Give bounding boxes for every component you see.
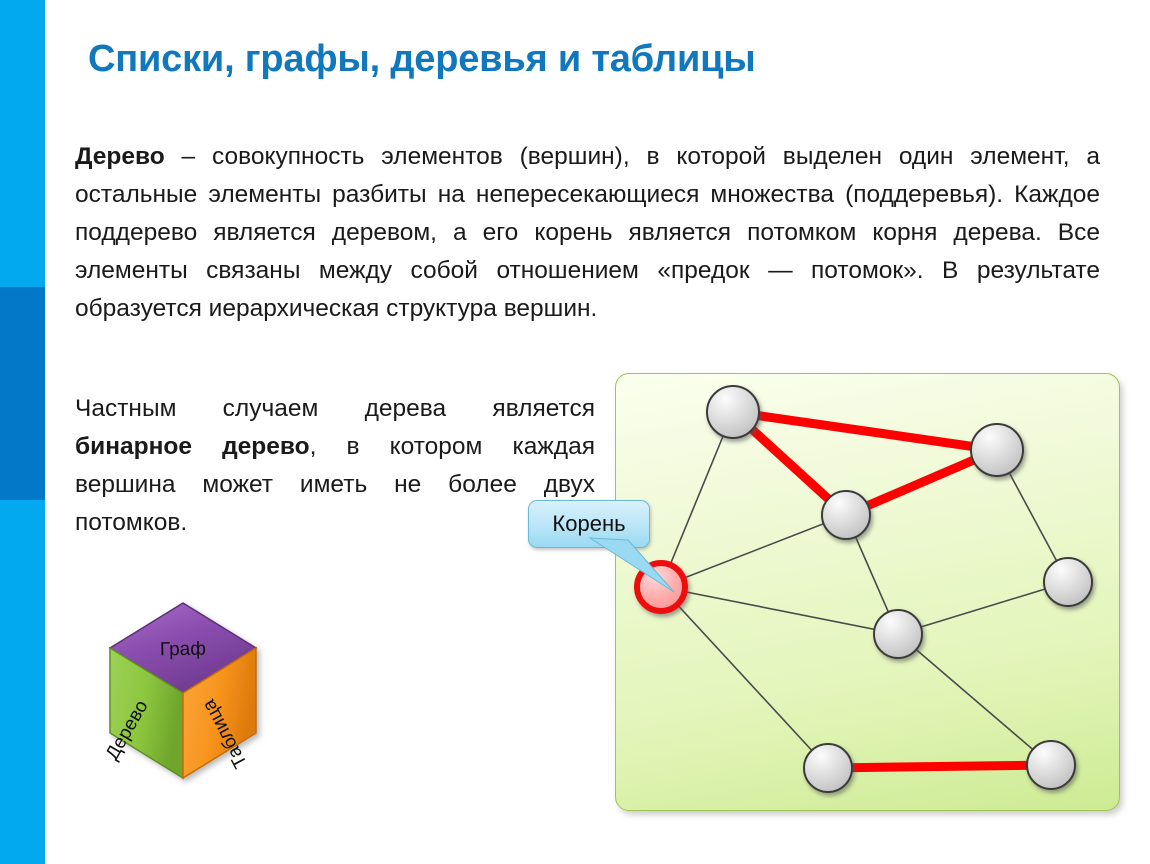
root-callout: Корень bbox=[528, 500, 650, 548]
root-callout-label: Корень bbox=[552, 513, 625, 535]
definition-text: – совокупность элементов (вершин), в кот… bbox=[75, 143, 1100, 322]
binary-tree-term: бинарное дерево bbox=[75, 433, 310, 460]
concept-cube-figure: Граф Дерево Таблица bbox=[72, 583, 302, 808]
accent-bar-segment-bottom bbox=[0, 500, 45, 864]
page-title: Списки, графы, деревья и таблицы bbox=[88, 38, 1088, 81]
binary-tree-paragraph: Частным случаем дерева является бинарное… bbox=[75, 390, 595, 542]
graph-illustration-panel bbox=[615, 373, 1120, 811]
accent-bar-segment-top bbox=[0, 0, 45, 287]
definition-term: Дерево bbox=[75, 143, 165, 170]
cube-label-graf: Граф bbox=[160, 639, 206, 661]
left-accent-bar bbox=[0, 0, 45, 864]
definition-paragraph: Дерево – совокупность элементов (вершин)… bbox=[75, 138, 1100, 328]
root-callout-tail bbox=[588, 538, 678, 598]
binary-tree-text-before: Частным случаем дерева является bbox=[75, 395, 595, 422]
accent-bar-segment-middle bbox=[0, 287, 45, 500]
